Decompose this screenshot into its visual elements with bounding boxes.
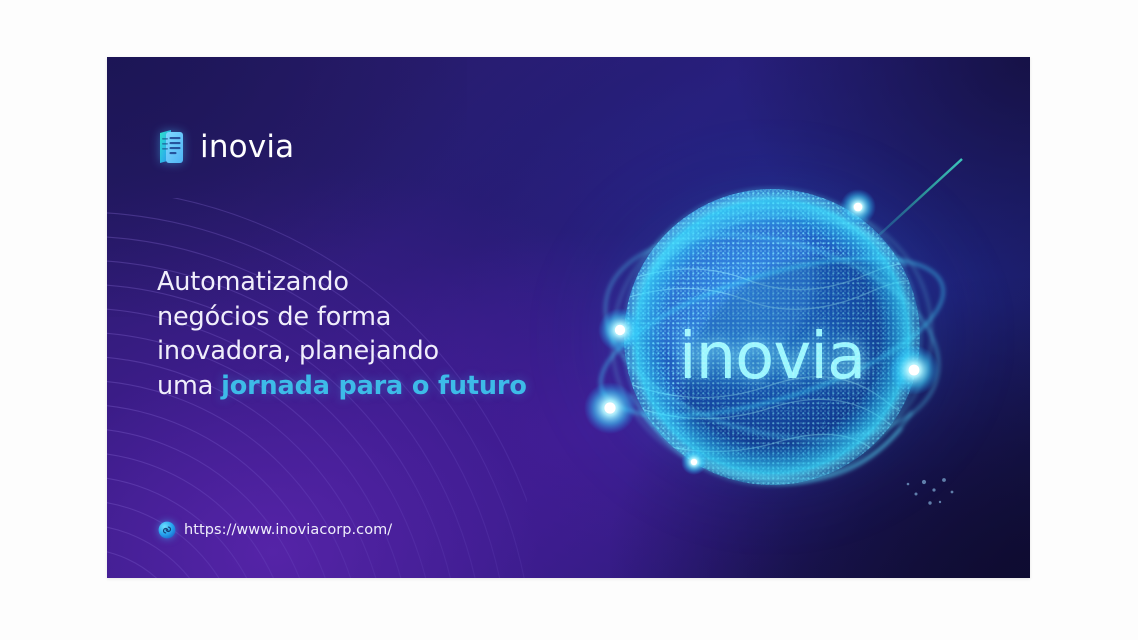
headline: Automatizando negócios de forma inovador… bbox=[157, 265, 587, 403]
headline-line-1: Automatizando bbox=[157, 265, 587, 300]
website-link[interactable]: https://www.inoviacorp.com/ bbox=[158, 521, 392, 539]
headline-line-4: uma jornada para o futuro bbox=[157, 369, 587, 404]
vignette-bottom-right bbox=[610, 278, 1030, 578]
globe-link-icon bbox=[158, 521, 176, 539]
headline-line-4-prefix: uma bbox=[157, 371, 221, 401]
headline-highlight: jornada para o futuro bbox=[221, 371, 527, 401]
brand-logo-text: inovia bbox=[200, 132, 294, 163]
globe-glow bbox=[532, 122, 1012, 552]
brand-logo[interactable]: inovia bbox=[157, 129, 294, 166]
particle-globe: inovia bbox=[572, 162, 972, 512]
headline-line-2: negócios de forma bbox=[157, 300, 587, 335]
globe-svg bbox=[572, 162, 972, 512]
arrow-up-right-icon bbox=[858, 147, 978, 267]
vignette-top-right bbox=[730, 57, 1030, 307]
document-lines-icon bbox=[157, 129, 187, 166]
headline-line-3: inovadora, planejando bbox=[157, 334, 587, 369]
presentation-slide: inovia bbox=[107, 57, 1030, 578]
website-url-text: https://www.inoviacorp.com/ bbox=[184, 522, 392, 538]
globe-wordmark: inovia bbox=[572, 320, 972, 394]
page-root: inovia bbox=[0, 0, 1138, 640]
